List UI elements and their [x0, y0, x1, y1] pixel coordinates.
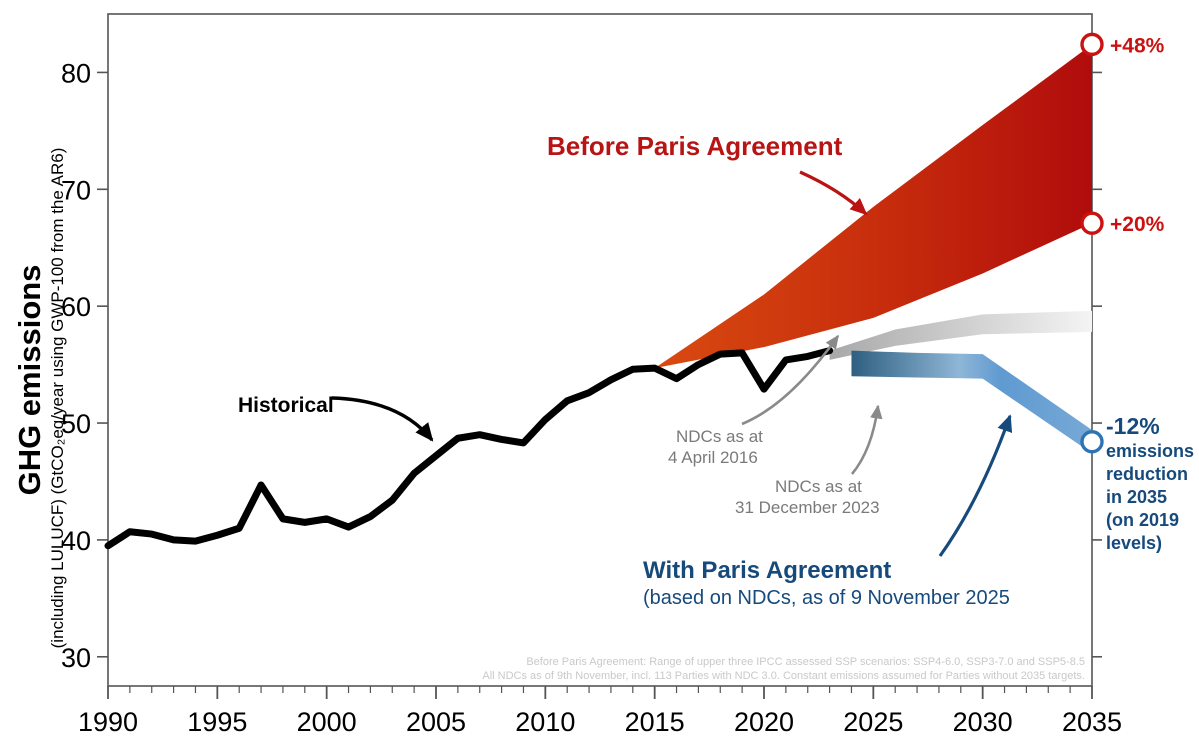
footnote-line-2: All NDCs as of 9th November, incl. 113 P… — [482, 670, 1085, 682]
marker-label: +48% — [1110, 34, 1165, 57]
annotation-with-paris-sub: (based on NDCs, as of 9 November 2025 — [643, 587, 1010, 609]
right-note-line-2: reduction — [1106, 464, 1188, 484]
endpoint-markers: +48%+20% — [1082, 34, 1165, 451]
x-tick-label: 2030 — [953, 707, 1013, 737]
right-axis-ticks — [1092, 72, 1102, 656]
scenario-bands — [655, 44, 1092, 453]
x-tick-label: 2000 — [297, 707, 357, 737]
x-tick-label: 2025 — [843, 707, 903, 737]
y-axis-title: GHG emissions — [12, 265, 47, 496]
annotation-historical: Historical — [238, 394, 334, 417]
right-note-line-3: in 2035 — [1106, 487, 1167, 507]
with-paris-arrow — [940, 416, 1010, 556]
ghg-emissions-chart: 304050607080 199019952000200520102015202… — [0, 0, 1199, 755]
right-note-line-5: levels) — [1106, 533, 1162, 553]
x-tick-label: 1995 — [187, 707, 247, 737]
right-note-line-4: (on 2019 — [1106, 510, 1179, 530]
annotation-ndc-2023-line1: NDCs as at — [775, 477, 862, 496]
right-note-line-1: emissions — [1106, 441, 1194, 461]
marker-minus-12 — [1082, 432, 1102, 452]
y-tick-label: 80 — [61, 58, 91, 88]
ndc-2023-arrow — [852, 406, 878, 474]
y-axis-subtitle: (including LULUCF) (GtCO₂eq/year using G… — [48, 148, 67, 649]
band-ndcs-as-at-31-december-2023 — [851, 351, 1092, 454]
x-tick-label: 2005 — [406, 707, 466, 737]
historical-arrow — [332, 398, 432, 440]
annotation-ndc-2016-line1: NDCs as at — [676, 427, 763, 446]
marker-plus-20: +20% — [1082, 213, 1165, 236]
footnote-line-1: Before Paris Agreement: Range of upper t… — [526, 656, 1085, 668]
annotation-ndc-2023-line2: 31 December 2023 — [735, 498, 880, 517]
marker-label: +20% — [1110, 213, 1165, 236]
x-tick-label: 1990 — [78, 707, 138, 737]
x-tick-label: 2020 — [734, 707, 794, 737]
chart-canvas: 304050607080 199019952000200520102015202… — [0, 0, 1199, 755]
annotation-with-paris-title: With Paris Agreement — [643, 557, 891, 584]
right-note-blue: -12% emissions reduction in 2035 (on 201… — [1106, 413, 1194, 553]
x-tick-label: 2015 — [625, 707, 685, 737]
annotation-before-paris: Before Paris Agreement — [547, 131, 843, 161]
y-axis-ticks: 304050607080 — [61, 58, 108, 672]
x-axis-minor-ticks — [130, 686, 1070, 693]
marker-plus-48: +48% — [1082, 34, 1165, 57]
annotation-ndc-2016-line2: 4 April 2016 — [668, 448, 758, 467]
x-tick-label: 2010 — [515, 707, 575, 737]
right-note-line-0: -12% — [1106, 413, 1160, 439]
x-tick-label: 2035 — [1062, 707, 1122, 737]
x-axis-ticks: 1990199520002005201020152020202520302035 — [78, 686, 1122, 737]
plot-frame — [108, 14, 1092, 686]
before-paris-arrow — [800, 172, 866, 214]
